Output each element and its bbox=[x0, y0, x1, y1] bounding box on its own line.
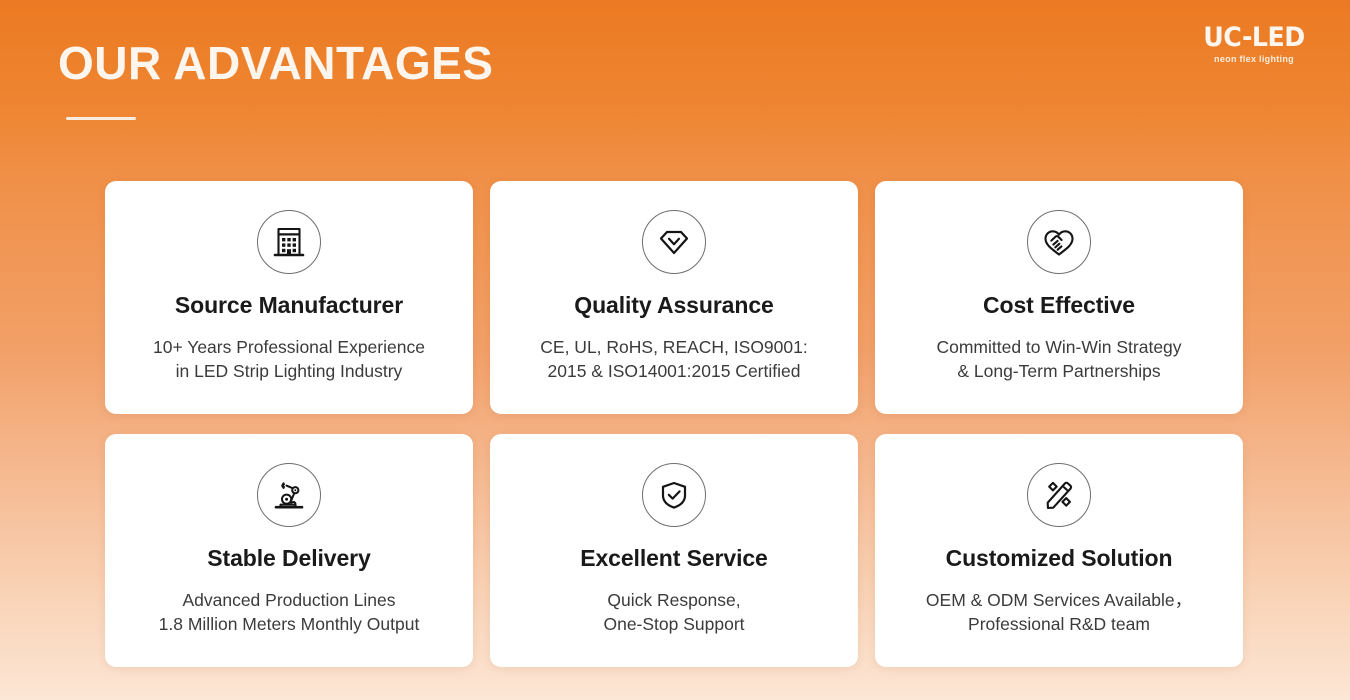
logo-wordmark: UC-LED bbox=[1190, 24, 1319, 51]
card-body: Quick Response, One-Stop Support bbox=[589, 588, 758, 636]
card-body: Advanced Production Lines 1.8 Million Me… bbox=[145, 588, 434, 636]
card-body: 10+ Years Professional Experience in LED… bbox=[139, 335, 439, 383]
card-body-line: 1.8 Million Meters Monthly Output bbox=[159, 612, 420, 636]
card-body-line: One-Stop Support bbox=[603, 612, 744, 636]
slide-canvas: OUR ADVANTAGES UC-LED neon flex lighting bbox=[0, 0, 1350, 700]
advantage-card-cost-effective: Cost Effective Committed to Win-Win Stra… bbox=[875, 181, 1243, 414]
card-body-line: Professional R&D team bbox=[926, 612, 1192, 636]
card-body-line: & Long-Term Partnerships bbox=[936, 359, 1181, 383]
card-body-line: in LED Strip Lighting Industry bbox=[153, 359, 425, 383]
card-body-line: OEM & ODM Services Available， bbox=[926, 588, 1192, 612]
advantage-card-quality-assurance: Quality Assurance CE, UL, RoHS, REACH, I… bbox=[490, 181, 858, 414]
title-underline-rule bbox=[66, 117, 136, 120]
card-body-line: Advanced Production Lines bbox=[159, 588, 420, 612]
shield-check-icon bbox=[642, 463, 706, 527]
logo-tagline: neon flex lighting bbox=[1192, 55, 1316, 64]
card-title: Stable Delivery bbox=[207, 546, 370, 571]
brand-logo: UC-LED neon flex lighting bbox=[1192, 24, 1316, 64]
design-tools-icon bbox=[1027, 463, 1091, 527]
building-icon bbox=[257, 210, 321, 274]
card-title: Excellent Service bbox=[580, 546, 768, 571]
card-body-line: 2015 & ISO14001:2015 Certified bbox=[540, 359, 807, 383]
page-title: OUR ADVANTAGES bbox=[58, 40, 494, 86]
advantages-grid: Source Manufacturer 10+ Years Profession… bbox=[105, 181, 1245, 667]
card-body-line: CE, UL, RoHS, REACH, ISO9001: bbox=[540, 335, 807, 359]
card-body-line: Committed to Win-Win Strategy bbox=[936, 335, 1181, 359]
card-body: Committed to Win-Win Strategy & Long-Ter… bbox=[922, 335, 1195, 383]
card-title: Cost Effective bbox=[983, 293, 1135, 318]
diamond-icon bbox=[642, 210, 706, 274]
robot-arm-icon bbox=[257, 463, 321, 527]
card-body-line: 10+ Years Professional Experience bbox=[153, 335, 425, 359]
card-body: CE, UL, RoHS, REACH, ISO9001: 2015 & ISO… bbox=[526, 335, 821, 383]
advantage-card-excellent-service: Excellent Service Quick Response, One-St… bbox=[490, 434, 858, 667]
card-title: Customized Solution bbox=[946, 546, 1173, 571]
advantage-card-stable-delivery: Stable Delivery Advanced Production Line… bbox=[105, 434, 473, 667]
card-body-line: Quick Response, bbox=[603, 588, 744, 612]
card-title: Quality Assurance bbox=[574, 293, 773, 318]
handshake-heart-icon bbox=[1027, 210, 1091, 274]
advantage-card-source-manufacturer: Source Manufacturer 10+ Years Profession… bbox=[105, 181, 473, 414]
card-body: OEM & ODM Services Available， Profession… bbox=[912, 588, 1206, 636]
advantage-card-customized-solution: Customized Solution OEM & ODM Services A… bbox=[875, 434, 1243, 667]
card-title: Source Manufacturer bbox=[175, 293, 403, 318]
